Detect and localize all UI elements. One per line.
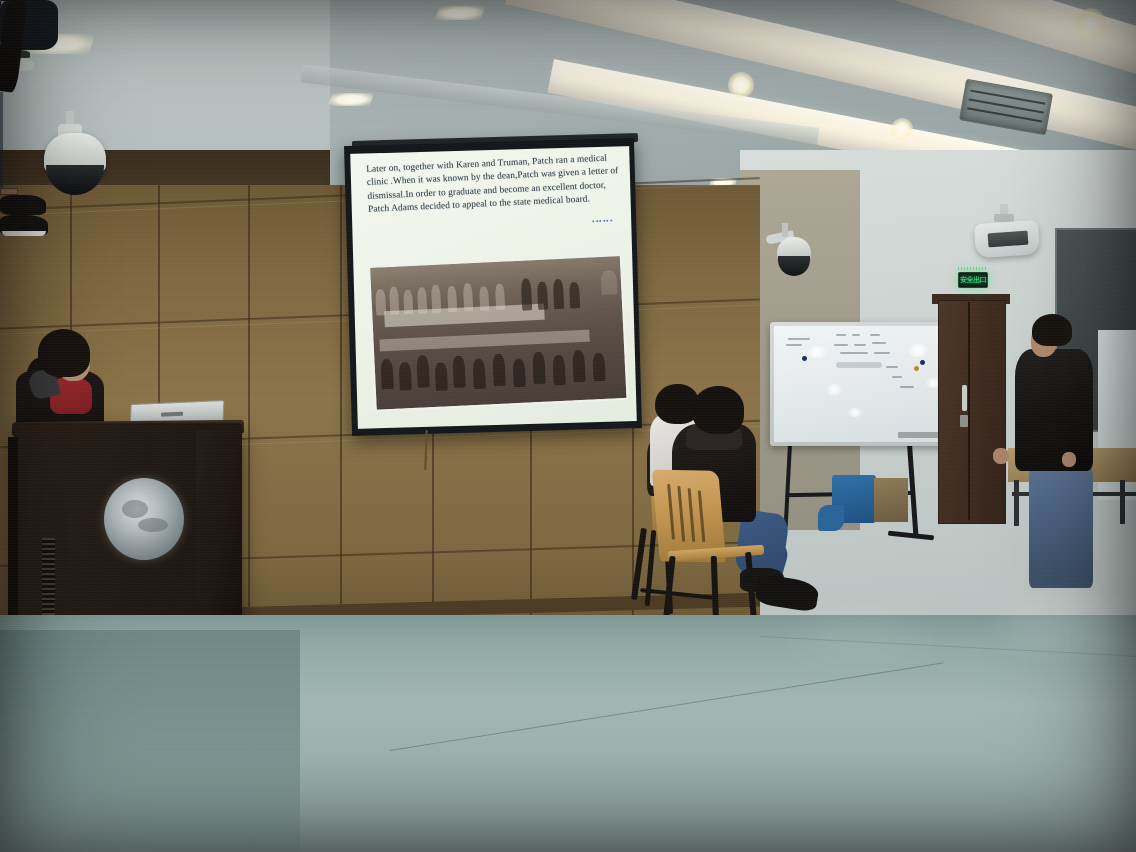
side-table-leg-1 bbox=[1014, 480, 1019, 526]
standing-man-glasses-icon bbox=[0, 188, 18, 195]
door[interactable] bbox=[938, 300, 1006, 524]
whiteboard-marker-tray bbox=[898, 432, 940, 438]
standing-man-arm bbox=[0, 0, 28, 93]
slide-photo bbox=[368, 254, 629, 412]
downlight-2 bbox=[891, 118, 913, 140]
exit-sign: 安全出口 bbox=[958, 272, 988, 288]
classroom-scene: Later on, together with Karen and Truman… bbox=[0, 0, 1136, 852]
ceiling-light-2 bbox=[328, 93, 374, 106]
door-lock-plate bbox=[960, 415, 968, 427]
projector-lens-grille bbox=[988, 231, 1029, 248]
slide-blue-artifact bbox=[592, 208, 614, 227]
slide-body-text: Later on, together with Karen and Truman… bbox=[366, 152, 621, 217]
screen-surface: Later on, together with Karen and Truman… bbox=[350, 146, 637, 429]
whiteboard-glare-1 bbox=[808, 346, 826, 358]
whiteboard-glare-2 bbox=[908, 344, 928, 357]
standing-man-hair bbox=[1032, 314, 1072, 346]
exit-sign-label: 安全出口 bbox=[960, 275, 986, 285]
downlight-4 bbox=[1076, 8, 1106, 38]
door-split bbox=[968, 302, 970, 520]
whiteboard-glare-4 bbox=[848, 408, 862, 417]
standing-man bbox=[0, 0, 48, 236]
standing-man-jacket bbox=[1015, 349, 1093, 471]
floor-left-shadow bbox=[0, 630, 300, 852]
standing-man-jeans bbox=[1029, 460, 1093, 588]
whiteboard-magnet-3 bbox=[914, 366, 919, 371]
exit-sign-leds bbox=[958, 267, 986, 270]
standing-man-leg-seam bbox=[0, 92, 3, 188]
whiteboard-glare-3 bbox=[826, 384, 842, 395]
downlight-1 bbox=[728, 72, 754, 98]
side-table-leg-2 bbox=[1120, 480, 1125, 524]
mop bbox=[818, 505, 844, 531]
ceiling-light-6 bbox=[435, 6, 486, 20]
whiteboard-magnet-2 bbox=[920, 360, 925, 365]
floor-reflection-1 bbox=[1000, 600, 1136, 644]
laptop-logo bbox=[161, 412, 183, 417]
seated-b-hair bbox=[692, 386, 744, 434]
standing-man-hand-left bbox=[993, 448, 1009, 464]
whiteboard[interactable] bbox=[770, 322, 962, 446]
presenter-hair bbox=[38, 329, 90, 377]
floor-reflection-2 bbox=[800, 620, 920, 650]
whiteboard-surface bbox=[774, 326, 958, 442]
projection-screen: Later on, together with Karen and Truman… bbox=[344, 138, 642, 436]
camera-right-mount bbox=[782, 223, 788, 237]
whiteboard-magnet bbox=[802, 356, 807, 361]
standing-man-hand-right bbox=[1062, 452, 1076, 467]
cardboard-box bbox=[874, 478, 908, 522]
door-handle[interactable] bbox=[962, 385, 967, 411]
standing-man-shoe-left bbox=[0, 195, 46, 215]
standing-man-shoe-right bbox=[0, 215, 48, 236]
podium-emblem bbox=[104, 478, 184, 560]
